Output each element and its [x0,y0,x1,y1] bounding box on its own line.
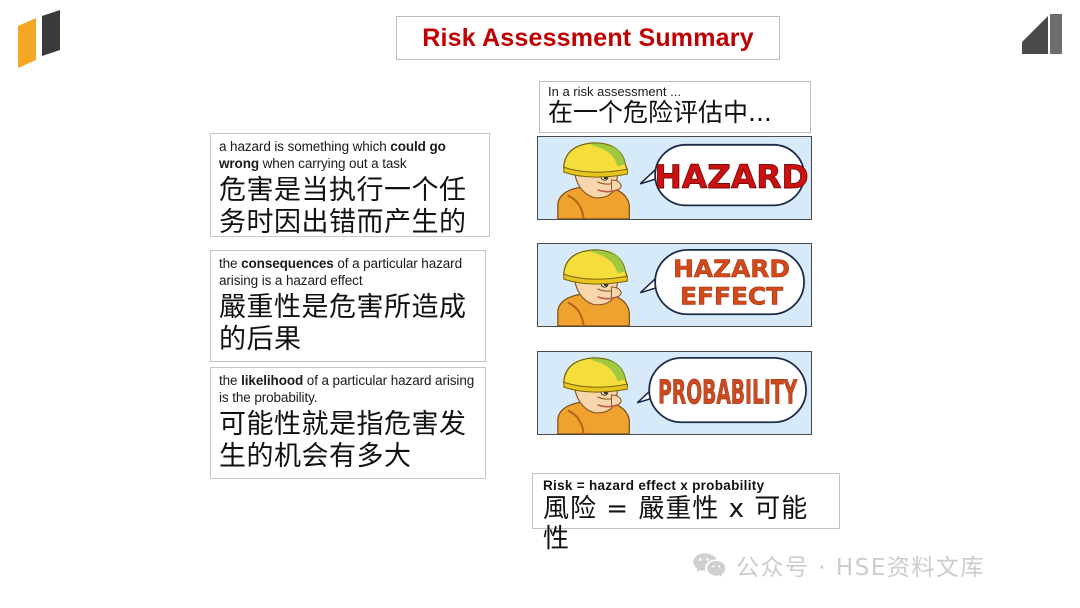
caption-box-risk-assessment: In a risk assessment ... 在一个危险评估中... [539,81,811,133]
definition-text-prefix: a hazard is something which [219,139,390,154]
watermark-text: 公众号 · HSE资料文库 [736,548,985,582]
definition-chinese-hazard: 危害是当执行一个任务时因出错而产生的 [219,175,481,239]
definition-chinese-consequences: 嚴重性是危害所造成的后果 [219,292,477,356]
speech-text-probability: PROBABILITY [658,373,798,412]
wechat-icon [692,552,726,578]
definition-english-hazard: a hazard is something which could go wro… [219,139,481,173]
speech-text-hazard-line1: HAZARD [673,254,790,283]
definition-english-consequences: the consequences of a particular hazard … [219,256,477,290]
watermark: 公众号 · HSE资料文库 [692,548,985,582]
definition-box-likelihood: the likelihood of a particular hazard ar… [210,367,486,479]
formula-english: Risk = hazard effect x probability [543,479,829,494]
speech-text-hazard: HAZARD [654,158,808,196]
clipart-panel-probability: PROBABILITY [537,351,812,435]
caption-chinese: 在一个危险评估中... [548,99,802,127]
worker-speech-probability-illustration: PROBABILITY [538,352,811,434]
definition-english-likelihood: the likelihood of a particular hazard ar… [219,373,477,407]
definition-box-hazard: a hazard is something which could go wro… [210,133,490,237]
worker-speech-hazard-illustration: HAZARD [538,137,811,219]
formula-box-risk: Risk = hazard effect x probability 風险 = … [532,473,840,529]
formula-chinese: 風险 = 嚴重性 x 可能性 [543,495,829,555]
page-title: Risk Assessment Summary [422,24,754,53]
worker-speech-hazard-effect-illustration: HAZARD EFFECT [538,244,811,326]
clipart-panel-hazard: HAZARD [537,136,812,220]
definition-text-prefix: the [219,256,241,271]
definition-text-bold: consequences [241,256,334,271]
top-left-decoration-icon [12,8,82,70]
slide-canvas: Risk Assessment Summary a hazard is some… [0,0,1080,608]
definition-text-prefix: the [219,373,241,388]
speech-text-hazard-line2: EFFECT [680,282,783,311]
page-title-box: Risk Assessment Summary [396,16,780,60]
definition-text-bold: likelihood [241,373,303,388]
definition-box-consequences: the consequences of a particular hazard … [210,250,486,362]
top-right-decoration-icon [1018,10,1070,68]
definition-text-suffix: when carrying out a task [259,156,407,171]
definition-chinese-likelihood: 可能性就是指危害发生的机会有多大 [219,409,477,473]
clipart-panel-hazard-effect: HAZARD EFFECT [537,243,812,327]
